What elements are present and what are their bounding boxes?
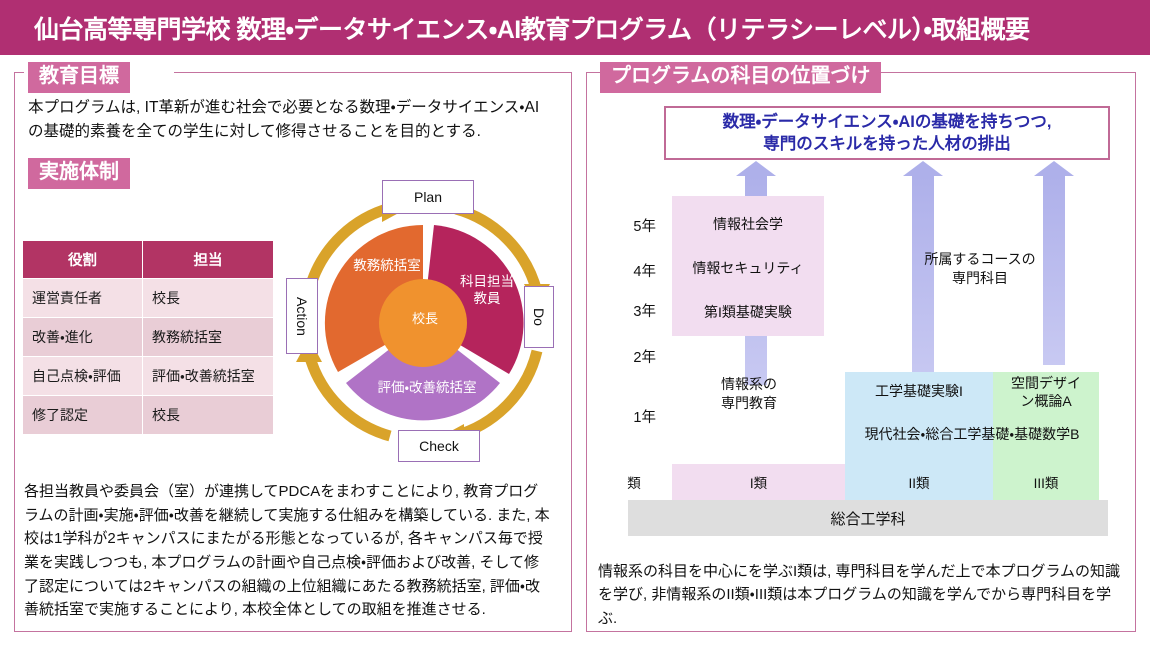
- table-row: 運営責任者 校長: [23, 279, 274, 318]
- label-joho-senmon-kyoiku: 情報系の専門教育: [690, 375, 808, 413]
- section-tag-placement: プログラムの科目の位置づけ: [600, 62, 881, 93]
- cell-role: 自己点検・評価: [23, 357, 143, 396]
- cell-owner: 校長: [143, 396, 274, 435]
- year-label-4: 4年: [612, 260, 656, 281]
- pdca-box-check: Check: [398, 430, 480, 462]
- year-label-1: 1年: [612, 406, 656, 427]
- pdca-box-action-label: Action: [294, 297, 310, 336]
- pdca-box-do-label: Do: [531, 308, 547, 326]
- year-label-5: 5年: [612, 215, 656, 236]
- course-kougaku-kiso-jikken: 工学基礎実験I: [845, 382, 993, 400]
- class-axis-label: 類: [612, 464, 656, 500]
- pdca-box-plan: Plan: [382, 180, 474, 214]
- class-I-upper-block: 情報社会学 情報セキュリティ 第I類基礎実験: [672, 196, 824, 336]
- callout-line-2: 専門のスキルを持った人材の排出: [763, 133, 1011, 155]
- class-cell-I: I類: [672, 464, 845, 500]
- cell-role: 改善・進化: [23, 318, 143, 357]
- year-label-2: 2年: [612, 346, 656, 367]
- pdca-box-action: Action: [286, 278, 318, 354]
- cell-owner: 評価・改善統括室: [143, 357, 274, 396]
- course-joho-security: 情報セキュリティ: [672, 258, 824, 278]
- table-header-row: 役割 担当: [23, 241, 274, 279]
- class-cell-III: III類: [993, 464, 1099, 500]
- pdca-segment-label-do: 科目担当教員: [444, 274, 530, 308]
- label-shozoku-course-senmon: 所属するコースの専門科目: [900, 250, 1060, 288]
- title-bar: 仙台高等専門学校 数理・データサイエンス・AI教育プログラム（リテラシーレベル）…: [0, 0, 1150, 55]
- class-cell-II: II類: [845, 464, 993, 500]
- pdca-segment-label-check: 評価・改善統括室: [352, 380, 502, 397]
- program-outcome-callout: 数理・データサイエンス・AIの基礎を持ちつつ, 専門のスキルを持った人材の排出: [664, 106, 1110, 160]
- page-title: 仙台高等専門学校 数理・データサイエンス・AI教育プログラム（リテラシーレベル）…: [0, 10, 1029, 46]
- table-row: 改善・進化 教務統括室: [23, 318, 274, 357]
- course-joho-shakaigaku: 情報社会学: [672, 214, 824, 234]
- course-dai-I-rui-kiso-jikken: 第I類基礎実験: [672, 302, 824, 322]
- year-label-3: 3年: [612, 300, 656, 321]
- education-goal-text: 本プログラムは, IT革新が進む社会で必要となる数理・データサイエンス・AIの基…: [28, 96, 548, 144]
- cell-role: 修了認定: [23, 396, 143, 435]
- role-table: 役割 担当 運営責任者 校長 改善・進化 教務統括室 自己点検・評価 評価・改善…: [22, 240, 274, 435]
- slide-root: 仙台高等専門学校 数理・データサイエンス・AI教育プログラム（リテラシーレベル）…: [0, 0, 1150, 647]
- section-tag-system: 実施体制: [28, 158, 130, 189]
- section-tag-goal: 教育目標: [28, 62, 130, 93]
- pdca-cycle-diagram: 教務統括室 科目担当教員 評価・改善統括室 校長 Plan Do Check A…: [278, 178, 568, 468]
- table-row: 修了認定 校長: [23, 396, 274, 435]
- cell-owner: 教務統括室: [143, 318, 274, 357]
- column-header-owner: 担当: [143, 241, 274, 279]
- pdca-box-do: Do: [524, 286, 554, 348]
- cell-owner: 校長: [143, 279, 274, 318]
- placement-description-text: 情報系の科目を中心にを学ぶI類は, 専門科目を学んだ上で本プログラムの知識を学び…: [598, 560, 1128, 630]
- table-row: 自己点検・評価 評価・改善統括室: [23, 357, 274, 396]
- implementation-system-text: 各担当教員や委員会（室）が連携してPDCAをまわすことにより, 教育プログラムの…: [24, 480, 552, 622]
- cell-role: 運営責任者: [23, 279, 143, 318]
- callout-line-1: 数理・データサイエンス・AIの基礎を持ちつつ,: [723, 111, 1052, 133]
- pdca-center-label: 校長: [390, 311, 460, 327]
- column-header-role: 役割: [23, 241, 143, 279]
- course-kuukan-design: 空間デザイン概論A: [995, 374, 1097, 410]
- course-gendai-shakai: 現代社会・総合工学基礎・基礎数学B: [845, 425, 1099, 443]
- pdca-segment-label-plan: 教務統括室: [332, 258, 442, 275]
- department-bar: 総合工学科: [628, 500, 1108, 536]
